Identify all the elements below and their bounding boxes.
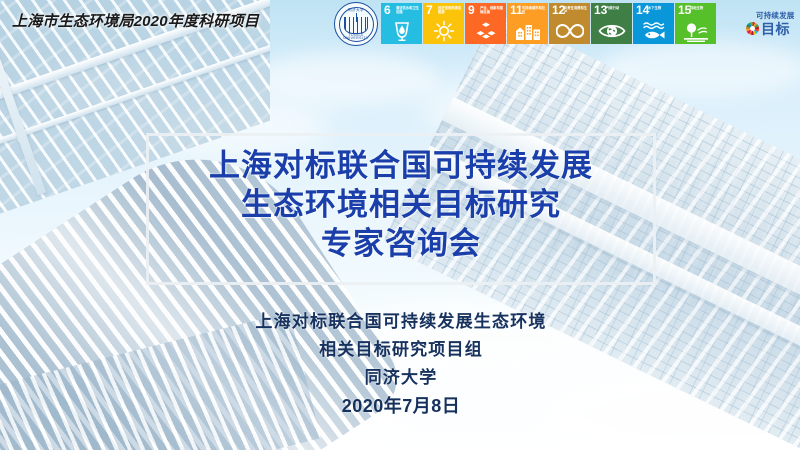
sdg-icon-15[interactable]: 15 陆地生物 <box>675 3 716 44</box>
cloud-shape <box>250 52 440 106</box>
sdg-icon-7[interactable]: 7 经济适用的清洁能源 <box>423 3 464 44</box>
slide-header: 上海市生态环境局2020年度科研项目 同济大学 TONGJI UNIVERSIT… <box>0 0 800 47</box>
sdg-icon-9[interactable]: 9 产业、创新和基础设施 <box>465 3 506 44</box>
cubes-industry-icon <box>465 20 506 42</box>
tree-land-icon <box>675 20 716 42</box>
sdg-label: 经济适用的清洁能源 <box>438 6 463 14</box>
infinity-loop-icon <box>549 20 590 42</box>
sdg-badge-line1: 可持续发展 <box>756 12 795 20</box>
sun-energy-icon <box>423 20 464 42</box>
sdg-label: 陆地生物 <box>690 6 715 10</box>
title-line-3: 专家咨询会 <box>150 224 652 263</box>
sdg-label: 气候行动 <box>606 6 631 10</box>
presentation-date: 2020年7月8日 <box>150 392 652 420</box>
subtitle-block: 上海对标联合国可持续发展生态环境 相关目标研究项目组 同济大学 2020年7月8… <box>150 308 652 420</box>
sdg-icon-12[interactable]: 12 负责任消费和生产 <box>549 3 590 44</box>
sdg-number: 11 <box>510 4 523 16</box>
sdg-number: 6 <box>384 4 391 16</box>
sdg-icon-14[interactable]: 14 水下生物 <box>633 3 674 44</box>
subtitle-line-1: 上海对标联合国可持续发展生态环境 <box>150 308 652 336</box>
sdg-badge-line2: 目标 <box>761 22 790 36</box>
title-line-2: 生态环境相关目标研究 <box>150 185 652 224</box>
city-buildings-icon <box>507 20 548 42</box>
sdg-number: 9 <box>468 4 475 16</box>
sdg-icon-13[interactable]: 13 气候行动 <box>591 3 632 44</box>
main-title: 上海对标联合国可持续发展 生态环境相关目标研究 专家咨询会 <box>150 146 652 263</box>
sdg-color-wheel-icon <box>746 22 759 35</box>
seal-top-text: 同济大学 <box>335 9 377 13</box>
water-drop-icon <box>381 20 422 42</box>
fish-waves-icon <box>633 20 674 42</box>
subtitle-line-2: 相关目标研究项目组 <box>150 336 652 364</box>
seal-bottom-text: TONGJI UNIVERSITY <box>335 34 377 41</box>
sdg-label: 负责任消费和生产 <box>564 6 589 14</box>
sdg-icon-6[interactable]: 6 清洁饮水和卫生设施 <box>381 3 422 44</box>
organization-name: 同济大学 <box>150 364 652 392</box>
sdg-wordmark-badge[interactable]: 可持续发展 目标 <box>746 6 798 42</box>
sdg-number: 7 <box>426 4 433 16</box>
title-line-1: 上海对标联合国可持续发展 <box>150 146 652 185</box>
project-banner-title: 上海市生态环境局2020年度科研项目 <box>12 14 259 29</box>
sdg-label: 水下生物 <box>648 6 673 10</box>
climate-eye-globe-icon <box>591 20 632 42</box>
seal-boat-icon <box>344 17 368 34</box>
cloud-shape <box>30 60 180 112</box>
presentation-slide: 上海市生态环境局2020年度科研项目 同济大学 TONGJI UNIVERSIT… <box>0 0 800 450</box>
tongji-university-seal-logo: 同济大学 TONGJI UNIVERSITY <box>334 2 378 46</box>
sdg-label: 可持续城市和社区 <box>522 6 547 14</box>
sdg-icon-11[interactable]: 11 可持续城市和社区 <box>507 3 548 44</box>
sdg-label: 清洁饮水和卫生设施 <box>396 6 421 14</box>
sdg-icon-row: 6 清洁饮水和卫生设施 7 经济适用的清洁能源 <box>381 3 716 44</box>
sdg-label: 产业、创新和基础设施 <box>480 6 505 14</box>
